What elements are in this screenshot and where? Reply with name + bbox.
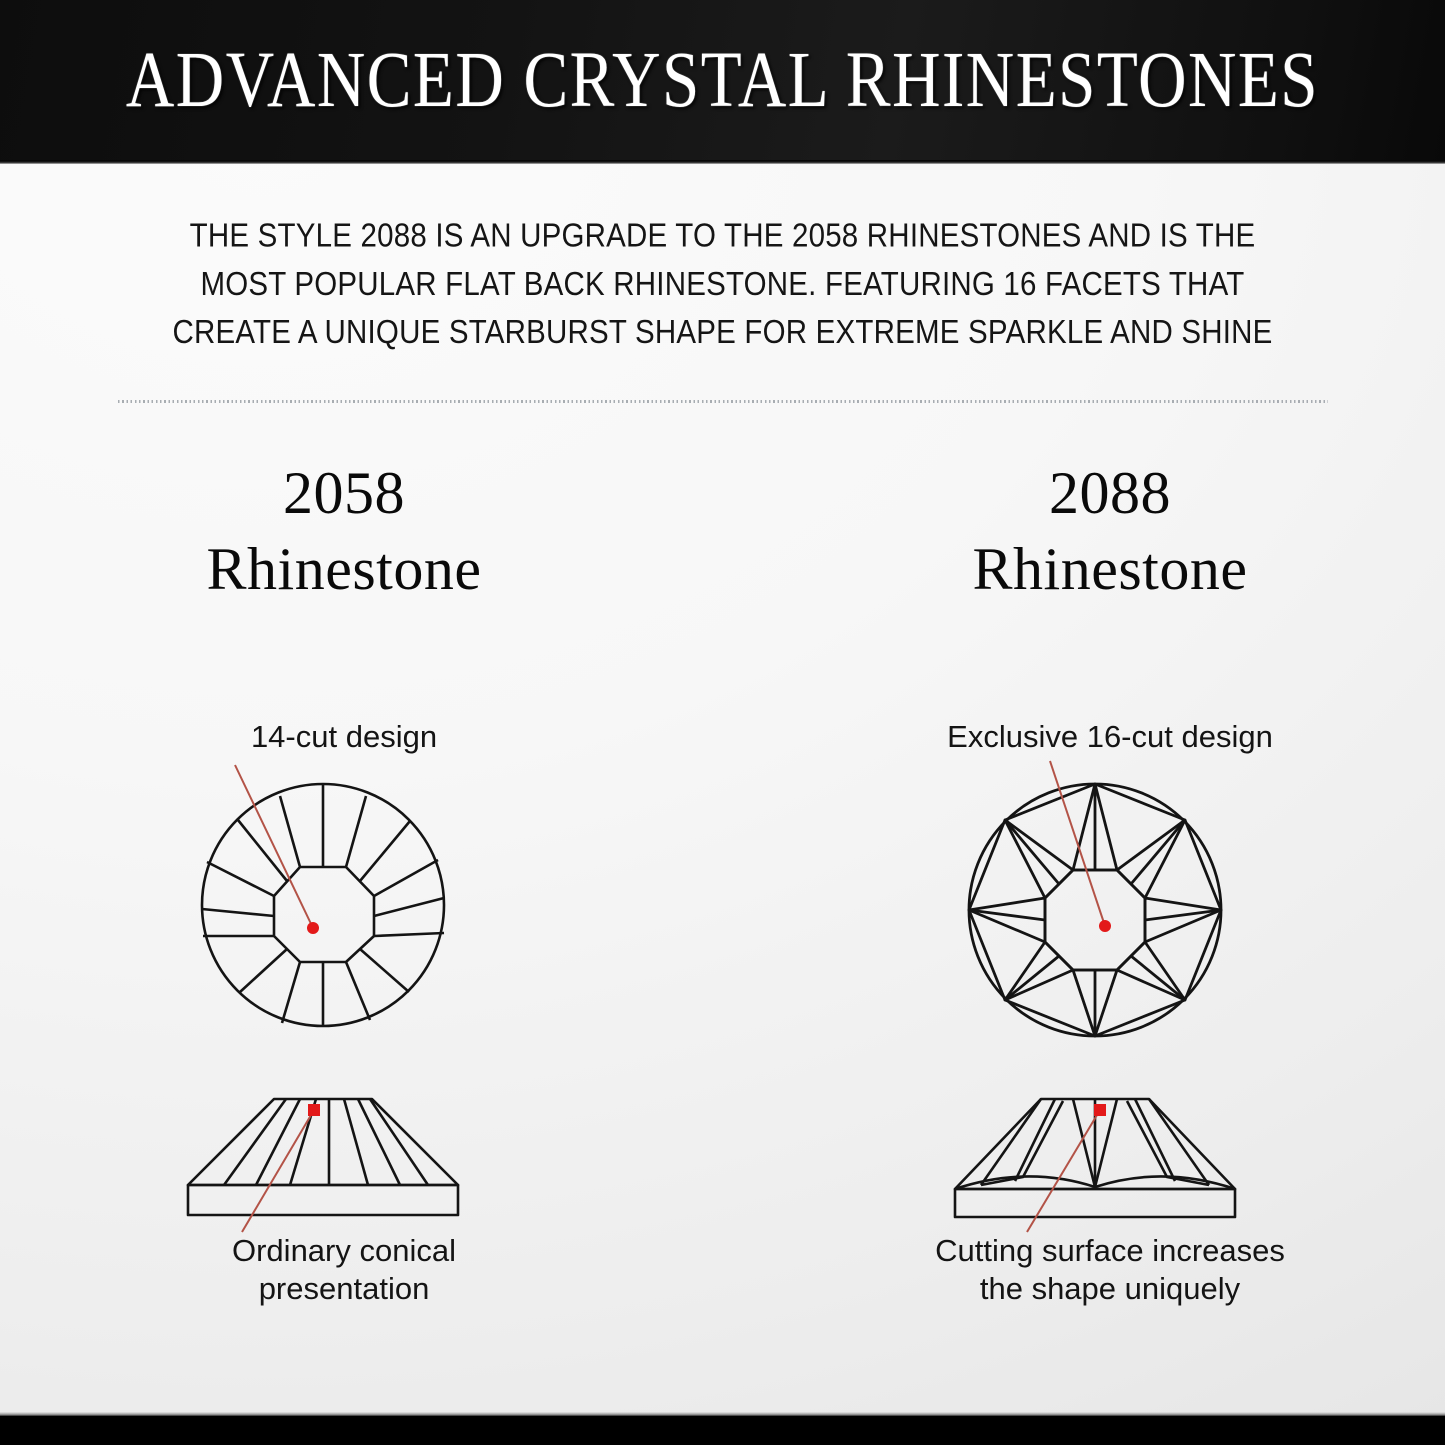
rhinestone-2088-top-view	[955, 770, 1235, 1050]
intro-line-2: MOST POPULAR FLAT BACK RHINESTONE. FEATU…	[104, 260, 1341, 308]
intro-line-3: CREATE A UNIQUE STARBURST SHAPE FOR EXTR…	[104, 308, 1341, 356]
rhinestone-2058-side-profile	[178, 1085, 468, 1230]
infographic-page: ADVANCED CRYSTAL RHINESTONES THE STYLE 2…	[0, 0, 1445, 1445]
column-2058-title-word: Rhinestone	[24, 531, 664, 607]
column-2058-title: 2058 Rhinestone	[24, 455, 664, 607]
note-2058-cut: 14-cut design	[24, 718, 664, 756]
caption-2088-line-1: Cutting surface increases	[790, 1232, 1430, 1270]
dotted-divider	[118, 400, 1328, 403]
caption-2088-line-2: the shape uniquely	[790, 1270, 1430, 1308]
column-2088-title: 2088 Rhinestone	[790, 455, 1430, 607]
header-banner: ADVANCED CRYSTAL RHINESTONES	[0, 0, 1445, 160]
column-2058-title-number: 2058	[283, 460, 405, 526]
note-2088-cut: Exclusive 16-cut design	[790, 718, 1430, 756]
column-2088-title-number: 2088	[1049, 460, 1171, 526]
column-2088-title-word: Rhinestone	[790, 531, 1430, 607]
caption-2088: Cutting surface increases the shape uniq…	[790, 1232, 1430, 1308]
rhinestone-2058-top-view	[188, 770, 458, 1040]
page-title: ADVANCED CRYSTAL RHINESTONES	[126, 35, 1319, 126]
banner-bottom-rule	[0, 160, 1445, 164]
caption-2058-line-2: presentation	[24, 1270, 664, 1308]
footer-strip	[0, 1416, 1445, 1445]
caption-2058-line-1: Ordinary conical	[24, 1232, 664, 1270]
caption-2058: Ordinary conical presentation	[24, 1232, 664, 1308]
intro-line-1: THE STYLE 2088 IS AN UPGRADE TO THE 2058…	[104, 212, 1341, 260]
column-2058: 2058 Rhinestone	[24, 455, 664, 607]
rhinestone-2088-side-profile	[945, 1085, 1245, 1230]
column-2088: 2088 Rhinestone	[790, 455, 1430, 607]
intro-paragraph: THE STYLE 2088 IS AN UPGRADE TO THE 2058…	[104, 212, 1341, 356]
